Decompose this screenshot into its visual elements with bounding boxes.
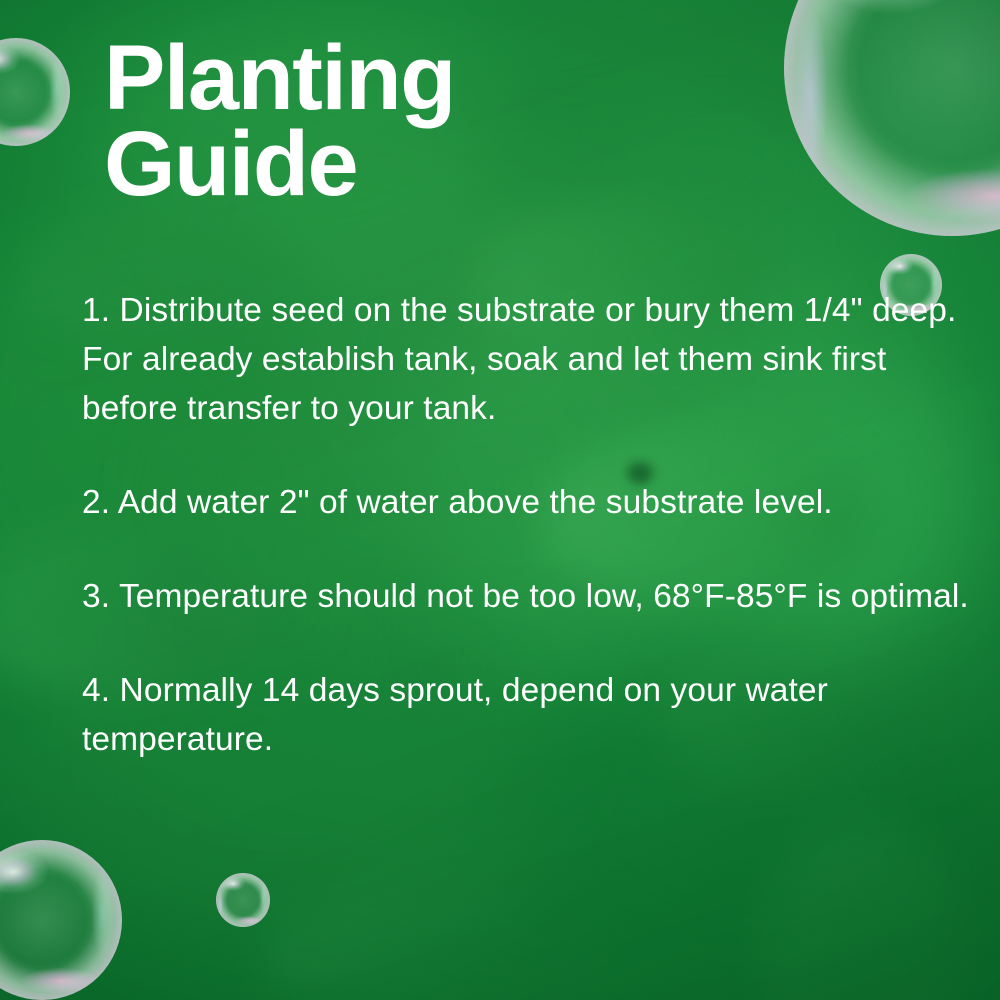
page-title: Planting Guide xyxy=(104,36,864,207)
instruction-step-1: 1. Distribute seed on the substrate or b… xyxy=(82,286,972,433)
instruction-list: 1. Distribute seed on the substrate or b… xyxy=(82,286,972,764)
instruction-step-2: 2. Add water 2" of water above the subst… xyxy=(82,478,972,527)
instruction-step-4: 4. Normally 14 days sprout, depend on yo… xyxy=(82,666,972,764)
card-content: Planting Guide 1. Distribute seed on the… xyxy=(0,0,1000,1000)
instruction-step-3: 3. Temperature should not be too low, 68… xyxy=(82,572,972,621)
planting-guide-card: Planting Guide 1. Distribute seed on the… xyxy=(0,0,1000,1000)
